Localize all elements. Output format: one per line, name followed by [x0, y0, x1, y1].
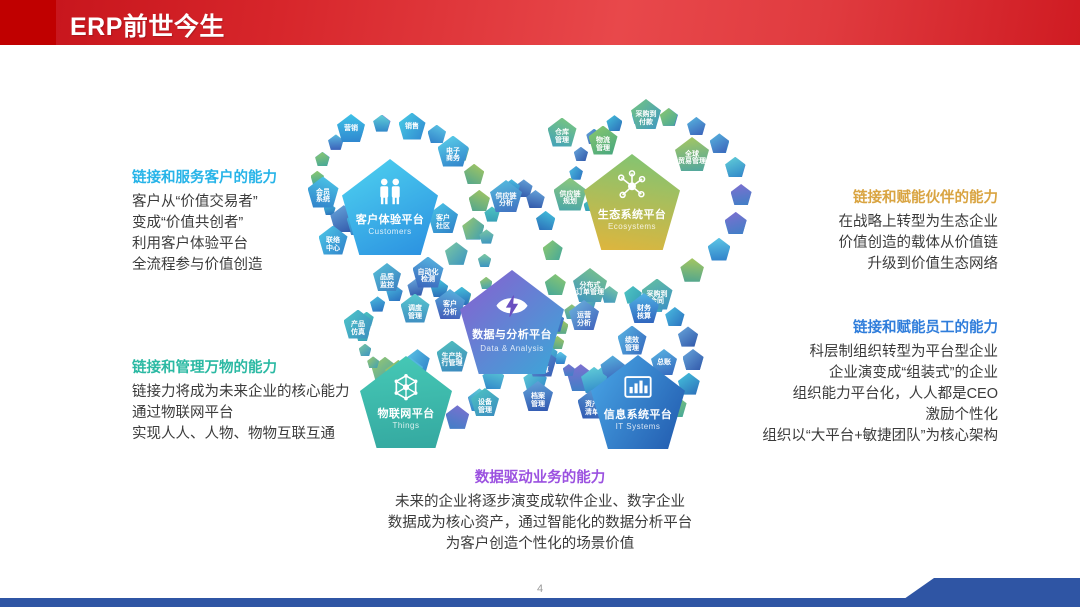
- customers-line-3: 利用客户体验平台: [132, 234, 277, 255]
- employees-line-4: 激励个性化: [648, 405, 998, 426]
- decor-pentagon: [687, 117, 706, 136]
- decor-pentagon: [359, 344, 372, 357]
- pentagon-shape: [478, 254, 491, 267]
- node-pentagon: 全球贸易管理: [675, 137, 709, 171]
- cube-network-icon: [389, 371, 422, 404]
- employees-line-2: 企业演变成“组装式”的企业: [648, 363, 998, 384]
- node-pentagon: 电子商务: [438, 136, 469, 167]
- node-pentagon: 会员系统: [308, 177, 339, 208]
- decor-pentagon: [315, 152, 329, 166]
- node-pentagon: 仓库管理: [548, 118, 577, 147]
- data-line-3: 为客户创造个性化的场景价值: [330, 534, 750, 555]
- footer-bar: [0, 598, 1080, 607]
- hub-ecosystems: 生态系统平台Ecosystems: [584, 154, 680, 250]
- node-pentagon: 采购到付款: [631, 99, 661, 129]
- customers-line-2: 变成“价值共创者”: [132, 213, 277, 234]
- data-heading: 数据驱动业务的能力: [330, 468, 750, 489]
- employees-line-5: 组织以“大平台+敏捷团队”为核心架构: [648, 426, 998, 447]
- node-pentagon: 绩效管理: [618, 326, 647, 355]
- partners-line-3: 升级到价值生态网络: [738, 254, 998, 275]
- decor-pentagon: [373, 115, 390, 132]
- decor-pentagon: [563, 364, 575, 376]
- cube-network-icon: [389, 371, 422, 409]
- pentagon-shape: [471, 388, 499, 416]
- network-nodes-icon: [615, 169, 650, 209]
- pentagon-shape: [725, 157, 745, 177]
- node-pentagon: 设备管理: [471, 388, 499, 416]
- customers-heading: 链接和服务客户的能力: [132, 168, 277, 189]
- pentagon-shape: [401, 294, 430, 323]
- decor-pentagon: [710, 133, 729, 152]
- text-block-things: 链接和管理万物的能力 链接力将成为未来企业的核心能力 通过物联网平台 实现人人、…: [132, 358, 350, 445]
- page-title: ERP前世今生: [70, 7, 225, 43]
- decor-pentagon: [680, 258, 704, 282]
- decor-pentagon: [478, 254, 491, 267]
- pentagon-shape: [344, 310, 373, 339]
- node-pentagon: 分布式订单管理: [573, 268, 607, 302]
- decor-pentagon: [526, 190, 544, 208]
- decor-pentagon: [543, 240, 563, 260]
- pentagon-shape: [589, 126, 618, 155]
- pentagon-shape: [373, 115, 390, 132]
- pentagon-shape: [573, 268, 607, 302]
- partners-line-1: 在战略上转型为生态企业: [738, 212, 998, 233]
- node-pentagon: 品质监控: [373, 263, 401, 291]
- pentagon-shape: [618, 326, 647, 355]
- pentagon-shape: [438, 136, 469, 167]
- text-block-partners: 链接和赋能伙伴的能力 在战略上转型为生态企业 价值创造的载体从价值链 升级到价值…: [738, 188, 998, 275]
- pentagon-shape: [308, 177, 339, 208]
- lightning-eye-icon: [493, 287, 530, 324]
- text-block-employees: 链接和赋能员工的能力 科层制组织转型为平台型企业 企业演变成“组装式”的企业 组…: [648, 318, 998, 447]
- header-left-block: [0, 0, 56, 45]
- partners-heading: 链接和赋能伙伴的能力: [738, 188, 998, 209]
- pentagon-shape: [536, 211, 555, 230]
- pentagon-shape: [413, 257, 444, 288]
- things-line-3: 实现人人、人物、物物互联互通: [132, 424, 350, 445]
- data-line-2: 数据成为核心资产，通过智能化的数据分析平台: [330, 513, 750, 534]
- decor-pentagon: [464, 164, 484, 184]
- things-line-1: 链接力将成为未来企业的核心能力: [132, 382, 350, 403]
- node-pentagon: 产品仿真: [344, 310, 373, 339]
- pentagon-shape: [680, 258, 704, 282]
- two-people-icon: [373, 174, 408, 214]
- pentagon-shape: [660, 108, 678, 126]
- decor-pentagon: [479, 229, 493, 243]
- node-pentagon: 供应链规划: [554, 178, 587, 211]
- pentagon-shape: [337, 114, 365, 142]
- node-pentagon: 档案管理: [523, 381, 553, 411]
- decor-pentagon: [708, 238, 731, 261]
- pentagon-shape: [399, 113, 426, 140]
- pentagon-shape: [687, 117, 706, 136]
- node-pentagon: 物流管理: [589, 126, 618, 155]
- pentagon-shape: [631, 99, 661, 129]
- node-pentagon: 运营分析: [569, 300, 599, 330]
- employees-heading: 链接和赋能员工的能力: [648, 318, 998, 339]
- network-nodes-icon: [615, 169, 650, 204]
- pentagon-shape: [359, 344, 372, 357]
- partners-line-2: 价值创造的载体从价值链: [738, 233, 998, 254]
- pentagon-shape: [526, 190, 544, 208]
- pentagon-shape: [548, 118, 577, 147]
- pentagon-shape: [563, 364, 575, 376]
- data-line-1: 未来的企业将逐步演变成软件企业、数字企业: [330, 492, 750, 513]
- node-pentagon: 供应链分析: [490, 180, 522, 212]
- decor-pentagon: [445, 242, 468, 265]
- hub-customers: 客户体验平台Customers: [342, 159, 438, 255]
- pentagon-shape: [675, 137, 709, 171]
- pentagon-shape: [315, 152, 329, 166]
- hub-data: 数据与分析平台Data & Analysis: [460, 270, 564, 374]
- decor-pentagon: [725, 157, 745, 177]
- customers-line-4: 全流程参与价值创造: [132, 255, 277, 276]
- slide-header: ERP前世今生: [0, 0, 1080, 45]
- pentagon-shape: [523, 381, 553, 411]
- pentagon-shape: [490, 180, 522, 212]
- decor-pentagon: [660, 108, 678, 126]
- pentagon-shape: [445, 242, 468, 265]
- pentagon-shape: [373, 263, 401, 291]
- node-pentagon: 自动化检测: [413, 257, 444, 288]
- customers-line-1: 客户从“价值交易者”: [132, 192, 277, 213]
- things-line-2: 通过物联网平台: [132, 403, 350, 424]
- employees-line-3: 组织能力平台化，人人都是CEO: [648, 384, 998, 405]
- pentagon-shape: [543, 240, 563, 260]
- pentagon-shape: [710, 133, 729, 152]
- text-block-customers: 链接和服务客户的能力 客户从“价值交易者” 变成“价值共创者” 利用客户体验平台…: [132, 168, 277, 276]
- things-heading: 链接和管理万物的能力: [132, 358, 350, 379]
- pentagon-shape: [708, 238, 731, 261]
- pentagon-shape: [554, 178, 587, 211]
- pentagon-shape: [569, 300, 599, 330]
- lightning-eye-icon: [493, 287, 530, 329]
- node-pentagon: 销售: [399, 113, 426, 140]
- employees-line-1: 科层制组织转型为平台型企业: [648, 342, 998, 363]
- two-people-icon: [373, 174, 408, 209]
- decor-pentagon: [536, 211, 555, 230]
- node-pentagon: 营销: [337, 114, 365, 142]
- pentagon-shape: [464, 164, 484, 184]
- text-block-data: 数据驱动业务的能力 未来的企业将逐步演变成软件企业、数字企业 数据成为核心资产，…: [330, 468, 750, 555]
- node-pentagon: 调度管理: [401, 294, 430, 323]
- pentagon-shape: [479, 229, 493, 243]
- hub-things: 物联网平台Things: [360, 356, 452, 448]
